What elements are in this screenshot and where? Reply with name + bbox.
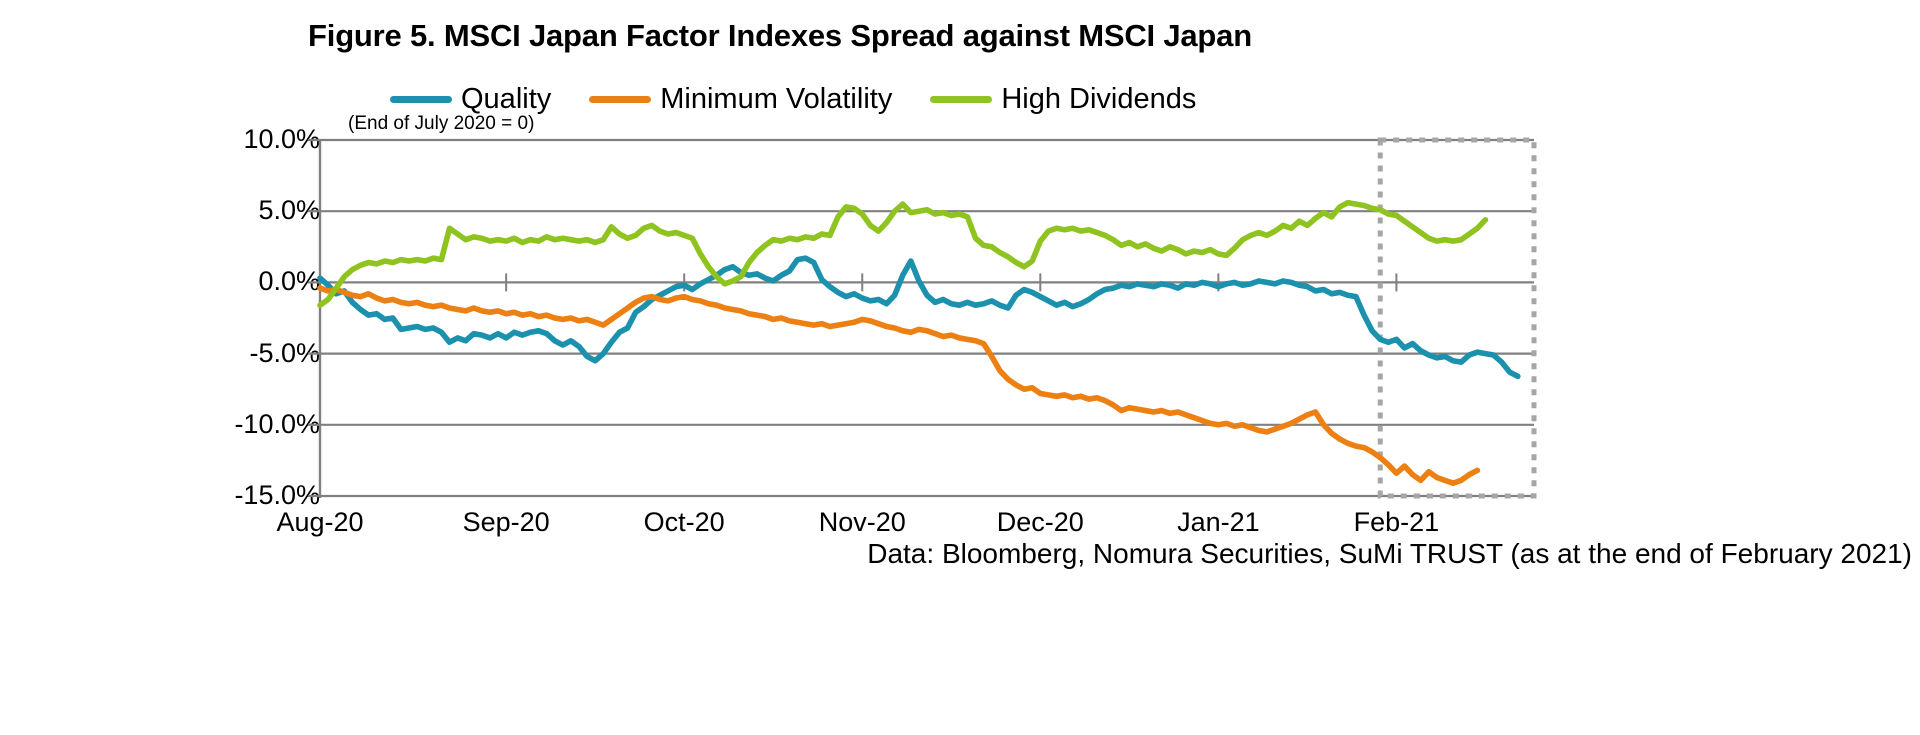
chart-plot-area xyxy=(0,0,1920,735)
series-line-quality[interactable] xyxy=(320,258,1518,376)
figure-container: Figure 5. MSCI Japan Factor Indexes Spre… xyxy=(0,0,1920,735)
highlight-region-box xyxy=(1380,140,1534,496)
series-line-minimum-volatility[interactable] xyxy=(320,288,1477,483)
data-source-footer: Data: Bloomberg, Nomura Securities, SuMi… xyxy=(0,538,1912,570)
